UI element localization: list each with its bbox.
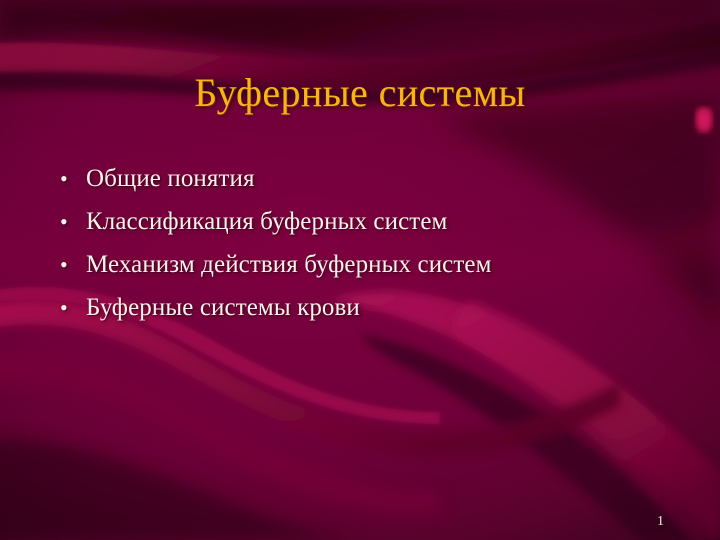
slide-title: Буферные системы (0, 72, 720, 114)
bullet-text: Общие понятия (86, 164, 666, 194)
bullet-item: • Общие понятия (56, 164, 666, 207)
bullet-dot-icon: • (56, 207, 86, 237)
slide-content: Буферные системы • Общие понятия • Класс… (0, 0, 720, 540)
bullet-item: • Механизм действия буферных систем (56, 250, 666, 293)
bullet-text: Буферные системы крови (86, 293, 666, 323)
bullet-text: Механизм действия буферных систем (86, 250, 666, 280)
presentation-slide: Буферные системы • Общие понятия • Класс… (0, 0, 720, 540)
bullet-item: • Классификация буферных систем (56, 207, 666, 250)
bullet-item: • Буферные системы крови (56, 293, 666, 336)
page-number: 1 (657, 513, 664, 531)
bullet-dot-icon: • (56, 250, 86, 280)
bullet-dot-icon: • (56, 293, 86, 323)
bullet-list: • Общие понятия • Классификация буферных… (56, 164, 666, 336)
bullet-text: Классификация буферных систем (86, 207, 666, 237)
bullet-dot-icon: • (56, 164, 86, 194)
